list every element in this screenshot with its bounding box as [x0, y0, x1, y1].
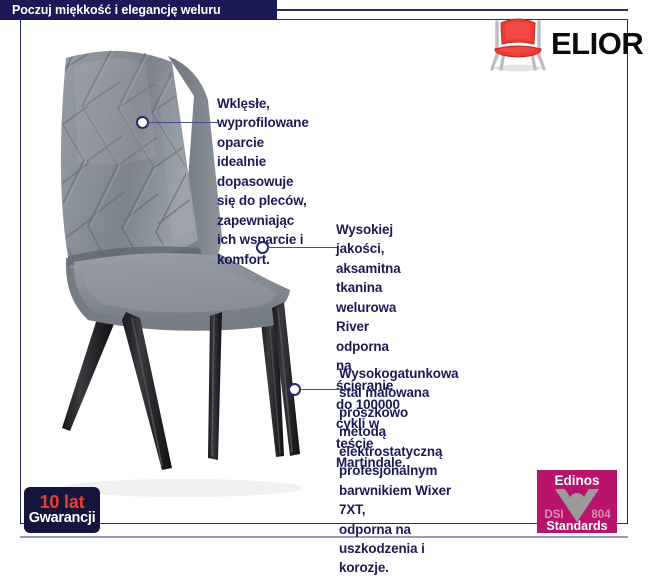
callout-leader-line: [148, 122, 218, 124]
callout-leader-line: [268, 247, 337, 249]
infographic-canvas: Poczuj miękkość i elegancję weluru ELIOR: [0, 0, 650, 560]
page-title: Poczuj miękkość i elegancję weluru: [12, 3, 221, 17]
check-circle-icon: [569, 493, 585, 509]
edinos-certification-badge: Edinos DSI 804 Standards: [537, 470, 617, 533]
warranty-label: Gwarancji: [29, 511, 96, 527]
brand-logo: ELIOR: [487, 12, 623, 74]
edinos-standards: Standards: [546, 519, 607, 533]
warranty-years: 10 lat: [40, 493, 85, 512]
bottom-divider: [20, 536, 628, 538]
header-rule: [277, 9, 628, 11]
brand-name: ELIOR: [551, 28, 643, 59]
callout-steel-frame-text: Wysokogatunkowa stal malowana proszkowo …: [339, 364, 459, 578]
header-banner: Poczuj miękkość i elegancję weluru: [0, 0, 277, 20]
edinos-title: Edinos: [554, 473, 599, 488]
warranty-badge: 10 lat Gwarancji: [24, 487, 100, 533]
red-chair-icon: [487, 13, 549, 73]
